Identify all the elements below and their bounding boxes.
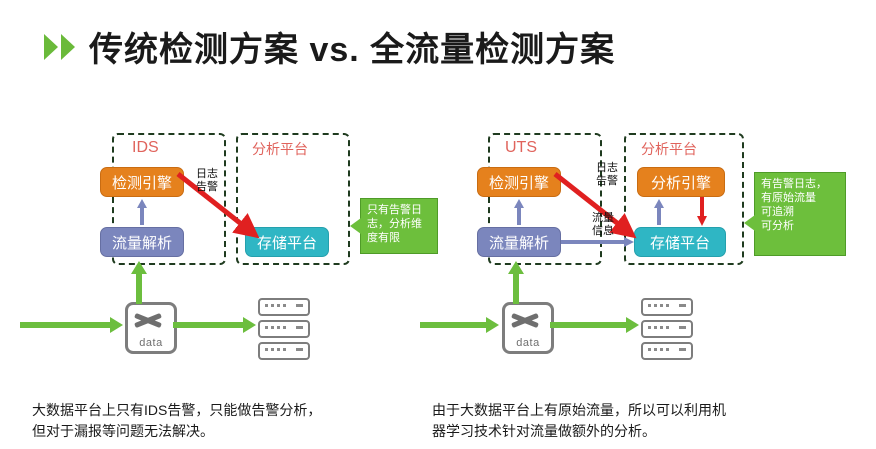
server-led-icon — [296, 326, 303, 329]
left-data-to-parse-shaft — [136, 272, 142, 304]
callout-tail — [744, 215, 755, 231]
right-data-to-servers-arrowhead — [626, 317, 639, 333]
left-log-alarm-label: 日志 告警 — [196, 168, 218, 194]
right-parse-to-storage-arrow — [561, 238, 635, 246]
server-dots-icon — [648, 348, 670, 351]
left-callout-text: 只有告警日 志，分析维 度有限 — [367, 204, 422, 244]
left-ids-group-label: IDS — [132, 139, 159, 157]
left-data-to-servers-shaft — [173, 322, 245, 328]
double-chevron-right-icon — [44, 34, 75, 60]
right-data-node-label: data — [505, 337, 551, 349]
left-data-to-parse-arrowhead — [131, 261, 147, 274]
left-server-stack-icon — [258, 298, 310, 364]
server-dots-icon — [648, 304, 670, 307]
right-data-node-icon[interactable]: data — [502, 302, 554, 354]
server-led-icon — [679, 304, 686, 307]
arrow-shaft — [140, 207, 144, 225]
arrow-head — [137, 199, 147, 208]
callout-tail — [350, 218, 361, 234]
left-data-node-icon[interactable]: data — [125, 302, 177, 354]
server-unit — [258, 298, 310, 316]
right-callout-text: 有告警日志， 有原始流量 可追溯 可分析 — [761, 178, 827, 232]
arrow-shaft — [700, 197, 704, 217]
right-data-to-parse-shaft — [513, 272, 519, 304]
server-led-icon — [296, 348, 303, 351]
server-led-icon — [679, 326, 686, 329]
arrow-head — [514, 199, 524, 208]
right-traffic-info-label: 流量 信息 — [592, 212, 614, 238]
left-inflow-shaft — [20, 322, 112, 328]
page-title-text: 传统检测方案 vs. 全流量检测方案 — [89, 22, 615, 71]
server-unit — [258, 342, 310, 360]
right-uts-group-label: UTS — [505, 139, 537, 157]
server-unit — [641, 320, 693, 338]
left-callout-box: 只有告警日 志，分析维 度有限 — [360, 198, 438, 254]
left-caption: 大数据平台上只有IDS告警，只能做告警分析， 但对于漏报等问题无法解决。 — [32, 400, 432, 442]
server-led-icon — [679, 348, 686, 351]
server-led-icon — [296, 304, 303, 307]
server-dots-icon — [265, 348, 287, 351]
arrow-shaft — [517, 207, 521, 225]
right-analysis-group-label: 分析平台 — [641, 139, 697, 159]
left-traffic-parse-node[interactable]: 流量解析 — [100, 227, 184, 257]
right-inflow-shaft — [420, 322, 488, 328]
left-data-node-label: data — [128, 337, 174, 349]
right-caption: 由于大数据平台上有原始流量，所以可以利用机 器学习技术针对流量做额外的分析。 — [432, 400, 852, 442]
right-data-to-parse-arrowhead — [508, 261, 524, 274]
right-detect-engine-node[interactable]: 检测引擎 — [477, 167, 561, 197]
right-inflow-arrowhead — [486, 317, 499, 333]
left-data-to-servers-arrowhead — [243, 317, 256, 333]
right-callout-box: 有告警日志， 有原始流量 可追溯 可分析 — [754, 172, 846, 256]
server-unit — [641, 342, 693, 360]
right-log-alarm-label: 日志 告警 — [596, 162, 618, 188]
slide-canvas: 传统检测方案 vs. 全流量检测方案 IDS 检测引擎 流量解析 分析平台 存储… — [0, 0, 876, 449]
right-server-stack-icon — [641, 298, 693, 364]
left-log-alarm-arrow — [176, 170, 296, 250]
left-inflow-arrowhead — [110, 317, 123, 333]
page-title: 传统检测方案 vs. 全流量检测方案 — [44, 22, 615, 71]
server-unit — [641, 298, 693, 316]
left-detect-engine-node[interactable]: 检测引擎 — [100, 167, 184, 197]
right-analysis-to-storage-arrow — [698, 197, 706, 227]
arrow-shaft — [561, 240, 625, 244]
server-dots-icon — [265, 326, 287, 329]
right-traffic-parse-node[interactable]: 流量解析 — [477, 227, 561, 257]
right-parse-to-engine-arrow — [515, 199, 523, 225]
left-analysis-group-label: 分析平台 — [252, 139, 308, 159]
server-dots-icon — [265, 304, 287, 307]
server-unit — [258, 320, 310, 338]
left-parse-to-engine-arrow — [138, 199, 146, 225]
right-data-to-servers-shaft — [550, 322, 628, 328]
server-dots-icon — [648, 326, 670, 329]
arrow-head — [697, 216, 707, 226]
arrow-head — [624, 237, 634, 247]
